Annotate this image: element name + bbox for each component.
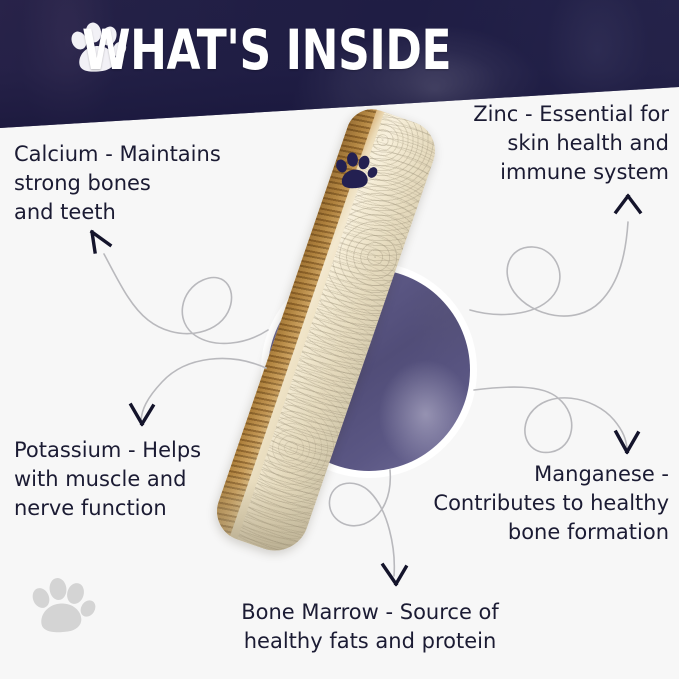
page-title: WHAT'S INSIDE bbox=[82, 23, 451, 78]
paw-print-icon bbox=[28, 573, 98, 641]
connector-zinc bbox=[470, 222, 628, 316]
label-potassium: Potassium - Helps with muscle and nerve … bbox=[14, 436, 294, 523]
header-content: WHAT'S INSIDE bbox=[0, 0, 679, 100]
connector-manganese bbox=[474, 387, 627, 452]
arrow-manganese bbox=[616, 432, 638, 452]
whats-inside-infographic: WHAT'S INSIDE bbox=[0, 0, 679, 679]
label-bone-marrow: Bone Marrow - Source of healthy fats and… bbox=[190, 598, 550, 656]
label-zinc: Zinc - Essential for skin health and imm… bbox=[369, 100, 669, 187]
arrow-bone-marrow bbox=[383, 565, 406, 584]
arrow-calcium bbox=[92, 232, 110, 252]
label-calcium: Calcium - Maintains strong bones and tee… bbox=[14, 140, 294, 227]
connector-calcium bbox=[104, 254, 268, 343]
label-manganese: Manganese - Contributes to healthy bone … bbox=[379, 460, 669, 547]
arrow-zinc bbox=[616, 196, 640, 212]
connector-potassium bbox=[141, 359, 266, 420]
arrow-potassium bbox=[131, 405, 153, 424]
